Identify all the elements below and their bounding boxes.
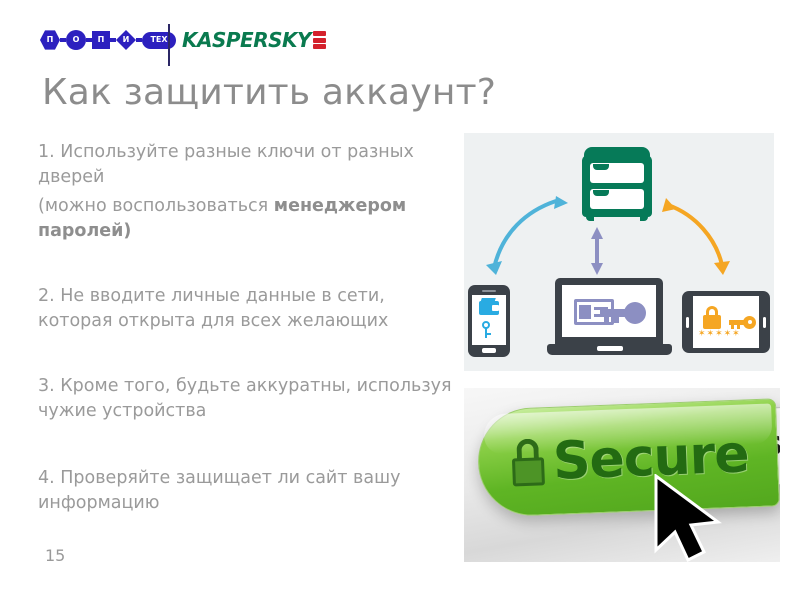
wallet-flap	[480, 298, 496, 303]
key-icon-tooth	[737, 325, 740, 329]
logo-node-label: П	[47, 36, 54, 44]
cabinet-handle	[593, 164, 609, 170]
tablet-icon: ✶✶✶✶✶	[682, 291, 770, 353]
logo-connector	[110, 38, 116, 42]
kaspersky-lab-mark-icon	[313, 31, 326, 49]
password-vault-cabinet-icon	[574, 143, 660, 221]
laptop-lid	[555, 278, 663, 344]
arrow-cabinet-to-phone	[494, 201, 556, 268]
arrowhead-up	[591, 227, 603, 239]
cabinet-leg	[586, 213, 594, 221]
logo-node-pill: ТЕХ	[142, 32, 176, 49]
slide-number: 15	[45, 546, 65, 565]
tablet-screen: ✶✶✶✶✶	[693, 296, 759, 348]
password-manager-diagram-image: ✶✶✶✶✶	[464, 133, 774, 371]
phone-screen	[472, 295, 506, 345]
key-icon-tooth	[487, 333, 491, 335]
page-title: Как защитить аккаунт?	[42, 72, 642, 113]
logo-divider	[168, 24, 170, 66]
password-mask-text: ✶✶✶✶✶	[698, 330, 741, 339]
padlock-body	[512, 457, 545, 486]
arrowhead-down	[591, 263, 603, 275]
logo-node-diamond: И	[116, 30, 136, 50]
padlock-icon	[510, 438, 546, 487]
kaspersky-wordmark: KASPERSKY	[182, 30, 311, 50]
card-chip	[579, 305, 591, 319]
arrowhead-to-cabinet	[554, 196, 568, 209]
secure-https-image: https:ll Secure	[464, 388, 780, 562]
kaspersky-logo: KASPERSKY	[182, 30, 326, 50]
logo-node-hexagon: П	[40, 30, 60, 50]
list-item-1-subtext-normal: (можно воспользоваться	[38, 196, 274, 216]
secure-badge-bar: Secure	[476, 398, 780, 517]
logo-node-label: И	[123, 36, 130, 44]
tablet-button	[763, 317, 766, 328]
phone-home-button	[482, 348, 496, 353]
body-text-column: 1. Используйте разные ключи от разных дв…	[38, 140, 453, 516]
key-icon-hole	[748, 320, 752, 324]
arrowhead-to-phone	[486, 261, 502, 275]
list-item-1-subtext: (можно воспользоваться менеджером пароле…	[38, 194, 453, 244]
logo-node-label: О	[73, 36, 80, 44]
key-icon-tooth	[604, 317, 609, 323]
list-item-1: 1. Используйте разные ключи от разных дв…	[38, 140, 453, 190]
logo-node-square: П	[92, 31, 110, 49]
laptop-icon	[547, 278, 672, 363]
laptop-trackpad-notch	[597, 346, 623, 351]
mouse-cursor-icon	[644, 474, 734, 562]
arrow-cabinet-to-tablet	[668, 205, 722, 265]
key-icon-tooth	[731, 325, 734, 329]
lab-bar	[313, 31, 326, 36]
list-item-3: 3. Кроме того, будьте аккуратны, использ…	[38, 374, 453, 424]
list-item-4: 4. Проверяйте защищает ли сайт вашу инфо…	[38, 466, 453, 516]
logo-node-circle: О	[66, 30, 86, 50]
header-bar: П О П И ТЕХ KASPERSKY	[0, 0, 800, 72]
smartphone-icon	[468, 285, 510, 357]
lab-bar	[313, 38, 326, 43]
tablet-camera	[686, 317, 689, 328]
cabinet-handle	[593, 190, 609, 196]
phone-speaker	[482, 290, 496, 292]
list-item-2: 2. Не вводите личные данные в сети, кото…	[38, 284, 453, 334]
popitech-logo: П О П И ТЕХ	[40, 30, 176, 50]
key-icon-tooth	[614, 317, 619, 323]
arrowhead-to-cabinet	[662, 198, 676, 212]
cabinet-leg	[640, 213, 648, 221]
logo-node-label: П	[98, 36, 105, 44]
key-icon-head	[624, 302, 646, 324]
padlock-icon-body	[703, 315, 721, 329]
lab-bar	[313, 44, 326, 49]
wallet-clasp	[492, 305, 499, 311]
laptop-screen	[562, 285, 656, 337]
arrowhead-to-tablet	[714, 261, 730, 275]
logo-node-label: ТЕХ	[150, 36, 167, 44]
